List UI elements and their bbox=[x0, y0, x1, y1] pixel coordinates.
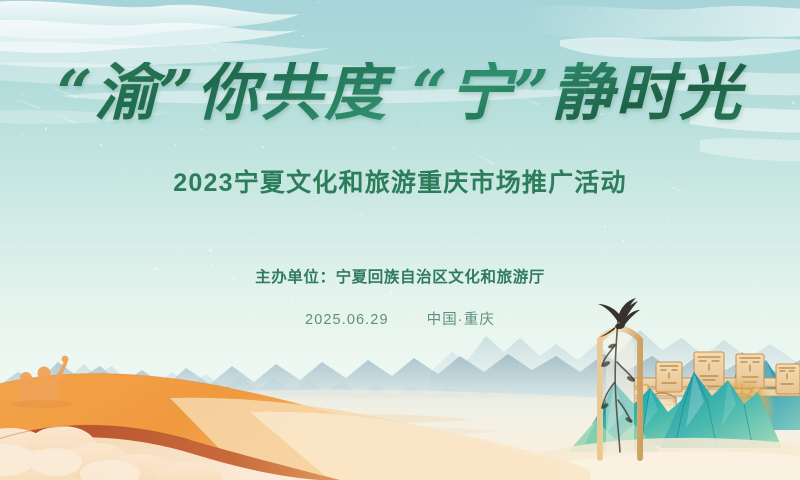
event-date: 2025.06.29 bbox=[305, 312, 389, 328]
page-title: “渝”你共度 “宁”静时光 bbox=[0, 62, 800, 124]
event-location: 中国·重庆 bbox=[427, 312, 495, 328]
poster-text-block: “渝”你共度 “宁”静时光 2023宁夏文化和旅游重庆市场推广活动 主办单位：宁… bbox=[0, 0, 800, 480]
poster-canvas: “渝”你共度 “宁”静时光 2023宁夏文化和旅游重庆市场推广活动 主办单位：宁… bbox=[0, 0, 800, 480]
event-subtitle: 2023宁夏文化和旅游重庆市场推广活动 bbox=[0, 163, 800, 199]
organizer-line: 主办单位：宁夏回族自治区文化和旅游厅 bbox=[0, 265, 800, 287]
event-meta-row: 2025.06.29中国·重庆 bbox=[0, 308, 800, 329]
